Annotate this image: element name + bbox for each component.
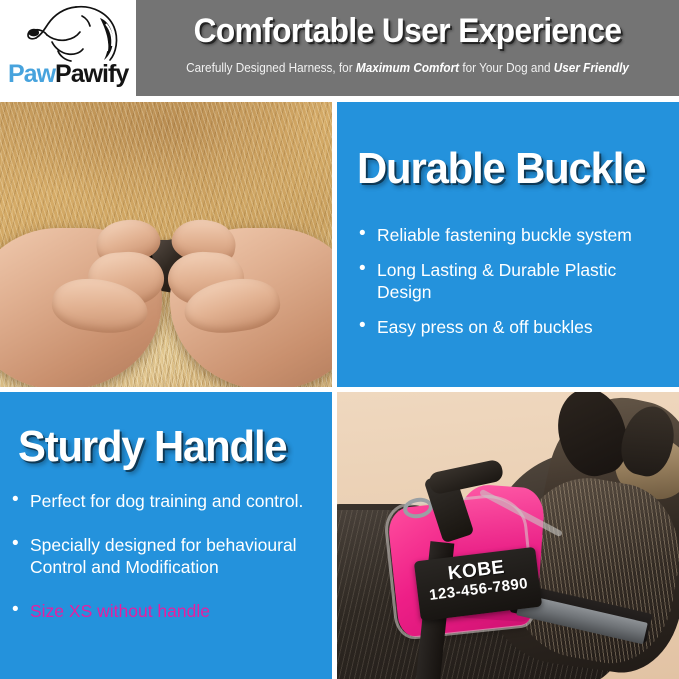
buckle-photo-panel [0,102,332,387]
header-title: Comfortable User Experience [155,12,660,50]
harness-photo-image: KOBE 123-456-7890 [337,392,679,679]
subtitle-part-1: Carefully Designed Harness, for [186,61,356,75]
list-item-accent: Size XS without handle [12,600,327,622]
brand-word-paw: Paw [8,60,55,88]
harness-photo-panel: KOBE 123-456-7890 [337,392,679,679]
subtitle-part-2: for Your Dog and [459,61,554,75]
brand-wordmark: PawPawify [8,60,132,88]
durable-buckle-title: Durable Buckle [357,144,645,194]
list-item: Specially designed for behavioural Contr… [12,534,327,578]
list-item: Easy press on & off buckles [359,316,664,338]
header-bar: PawPawify Comfortable User Experience Ca… [0,0,679,96]
sturdy-handle-title: Sturdy Handle [18,422,287,472]
list-item: Perfect for dog training and control. [12,490,327,512]
durable-buckle-panel: Durable Buckle Reliable fastening buckle… [337,102,679,387]
buckle-photo-image [0,102,332,387]
brand-word-pawify: Pawify [55,60,128,88]
sturdy-handle-panel: Sturdy Handle Perfect for dog training a… [0,392,332,679]
brand-logo: PawPawify [0,0,136,96]
subtitle-emphasis-1: Maximum Comfort [356,61,459,75]
infographic-page: PawPawify Comfortable User Experience Ca… [0,0,679,679]
header-subtitle: Carefully Designed Harness, for Maximum … [152,60,662,76]
list-item: Long Lasting & Durable Plastic Design [359,259,664,303]
sturdy-handle-bullet-list: Perfect for dog training and control. Sp… [12,490,327,644]
dog-head-icon [22,4,130,62]
list-item: Reliable fastening buckle system [359,224,664,246]
subtitle-emphasis-2: User Friendly [554,61,629,75]
durable-buckle-bullet-list: Reliable fastening buckle system Long La… [359,224,664,351]
